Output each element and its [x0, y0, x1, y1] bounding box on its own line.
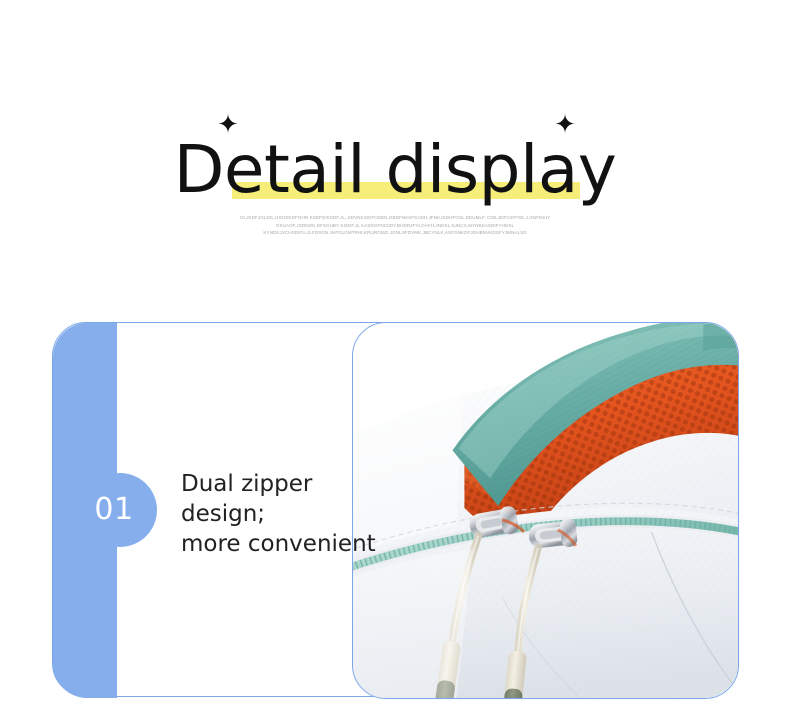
- feature-text-line: design;: [181, 499, 441, 529]
- subtitle-line: KYNDKJVCHSDIFU.JLFDSGN.JHFDLGMTRHLKRUROI…: [0, 229, 790, 237]
- feature-text-line: more convenient: [181, 529, 441, 559]
- feature-description: Dual zipper design; more convenient: [181, 469, 441, 559]
- feature-card: 01 Dual zipper design; more convenient: [52, 322, 738, 697]
- step-number-badge: 01: [83, 473, 157, 547]
- subtitle-line: OSUAOF.JSDNGK,DFSGHBY KISDF.JL KASDGFNCI…: [0, 222, 790, 230]
- step-number-label: 01: [94, 495, 145, 525]
- page-header: ✦ ✦ Detail display OI,JKDFJGLDS.JHGOIKDF…: [0, 0, 790, 300]
- page-title: Detail display: [174, 132, 617, 208]
- title-container: Detail display: [0, 132, 790, 208]
- subtitle-block: OI,JKDFJGLDS.JHGOIKDFGHN KSDFDIKSDF.JL,,…: [0, 214, 790, 237]
- feature-text-line: Dual zipper: [181, 469, 441, 499]
- subtitle-line: OI,JKDFJGLDS.JHGOIKDFGHN KSDFDIKSDF.JL,,…: [0, 214, 790, 222]
